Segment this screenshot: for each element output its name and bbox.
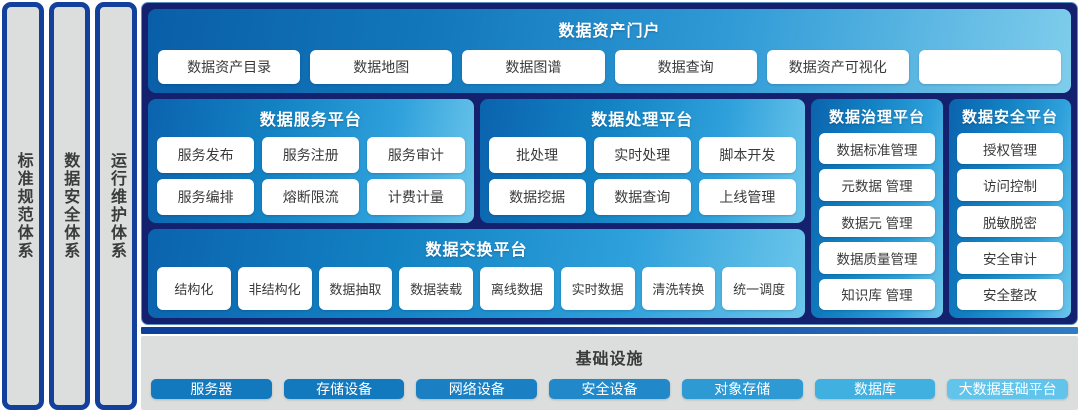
exchange-item-structured[interactable]: 结构化 <box>157 267 231 310</box>
exchange-item-offline[interactable]: 离线数据 <box>480 267 554 310</box>
security-item-rectification[interactable]: 安全整改 <box>957 279 1063 310</box>
infrastructure-title: 基础设施 <box>151 345 1068 369</box>
governance-item-data-element[interactable]: 数据元 管理 <box>819 206 935 237</box>
service-platform-grid: 服务发布 服务注册 服务审计 服务编排 熔断限流 计费计量 <box>157 137 465 215</box>
data-governance-platform-section: 数据治理平台 数据标准管理 元数据 管理 数据元 管理 数据质量管理 知识库 管… <box>811 99 943 318</box>
security-item-access-control[interactable]: 访问控制 <box>957 169 1063 200</box>
portal-item-visualization[interactable]: 数据资产可视化 <box>767 50 909 84</box>
service-platform-row: 服务发布 服务注册 服务审计 <box>157 137 465 173</box>
infra-item-server[interactable]: 服务器 <box>151 379 272 399</box>
service-platform-title: 数据服务平台 <box>157 106 465 130</box>
service-and-processing-row: 数据服务平台 服务发布 服务注册 服务审计 服务编排 熔断限流 <box>148 99 805 223</box>
main-region: 数据资产门户 数据资产目录 数据地图 数据图谱 数据查询 数据资产可视化 <box>141 0 1080 412</box>
sidebar-item-label: 标准规范体系 <box>13 152 33 260</box>
security-item-desensitization[interactable]: 脱敏脱密 <box>957 206 1063 237</box>
exchange-item-unstructured[interactable]: 非结构化 <box>238 267 312 310</box>
service-item-publish[interactable]: 服务发布 <box>157 137 254 173</box>
vertical-systems-group: 标准规范体系 数据安全体系 运行维护体系 <box>0 0 141 412</box>
processing-platform-row: 批处理 实时处理 脚本开发 <box>489 137 797 173</box>
processing-item-realtime[interactable]: 实时处理 <box>594 137 691 173</box>
sidebar-item-data-security[interactable]: 数据安全体系 <box>49 2 91 410</box>
exchange-item-realtime[interactable]: 实时数据 <box>561 267 635 310</box>
data-exchange-platform-section: 数据交换平台 结构化 非结构化 数据抽取 数据装载 离线数据 实时数据 清洗转换… <box>148 229 805 318</box>
processing-item-query[interactable]: 数据查询 <box>594 179 691 215</box>
infra-item-object-storage[interactable]: 对象存储 <box>682 379 803 399</box>
governance-item-knowledge-base[interactable]: 知识库 管理 <box>819 279 935 310</box>
data-processing-platform-section: 数据处理平台 批处理 实时处理 脚本开发 数据挖据 数据查询 <box>480 99 806 223</box>
governance-platform-title: 数据治理平台 <box>819 106 935 127</box>
service-item-orchestration[interactable]: 服务编排 <box>157 179 254 215</box>
service-item-billing[interactable]: 计费计量 <box>367 179 464 215</box>
portal-item-query[interactable]: 数据查询 <box>615 50 757 84</box>
service-item-audit[interactable]: 服务审计 <box>367 137 464 173</box>
exchange-item-cleansing[interactable]: 清洗转换 <box>642 267 716 310</box>
platform-frame: 数据资产门户 数据资产目录 数据地图 数据图谱 数据查询 数据资产可视化 <box>141 2 1078 325</box>
sidebar-item-operations[interactable]: 运行维护体系 <box>95 2 137 410</box>
governance-item-data-quality[interactable]: 数据质量管理 <box>819 242 935 273</box>
infra-item-security-device[interactable]: 安全设备 <box>549 379 670 399</box>
portal-item-map[interactable]: 数据地图 <box>310 50 452 84</box>
exchange-item-load[interactable]: 数据装载 <box>399 267 473 310</box>
service-platform-row: 服务编排 熔断限流 计费计量 <box>157 179 465 215</box>
processing-platform-title: 数据处理平台 <box>489 106 797 130</box>
right-platforms-group: 数据治理平台 数据标准管理 元数据 管理 数据元 管理 数据质量管理 知识库 管… <box>811 99 1071 318</box>
service-item-register[interactable]: 服务注册 <box>262 137 359 173</box>
security-platform-title: 数据安全平台 <box>957 106 1063 127</box>
governance-item-metadata[interactable]: 元数据 管理 <box>819 169 935 200</box>
data-service-platform-section: 数据服务平台 服务发布 服务注册 服务审计 服务编排 熔断限流 <box>148 99 474 223</box>
portal-items-row: 数据资产目录 数据地图 数据图谱 数据查询 数据资产可视化 <box>158 50 1061 84</box>
processing-item-batch[interactable]: 批处理 <box>489 137 586 173</box>
infrastructure-items-row: 服务器 存储设备 网络设备 安全设备 对象存储 数据库 大数据基础平台 <box>151 379 1068 399</box>
security-item-audit[interactable]: 安全审计 <box>957 242 1063 273</box>
portal-item-empty[interactable] <box>919 50 1061 84</box>
exchange-item-extract[interactable]: 数据抽取 <box>319 267 393 310</box>
portal-item-catalog[interactable]: 数据资产目录 <box>158 50 300 84</box>
exchange-platform-title: 数据交换平台 <box>157 236 796 260</box>
service-item-circuit-breaker[interactable]: 熔断限流 <box>262 179 359 215</box>
processing-item-release-mgmt[interactable]: 上线管理 <box>699 179 796 215</box>
data-asset-portal-section: 数据资产门户 数据资产目录 数据地图 数据图谱 数据查询 数据资产可视化 <box>148 9 1071 93</box>
infrastructure-section: 基础设施 服务器 存储设备 网络设备 安全设备 对象存储 数据库 大数据基础平台 <box>141 336 1078 410</box>
platforms-band: 数据服务平台 服务发布 服务注册 服务审计 服务编排 熔断限流 <box>148 99 1071 318</box>
processing-platform-row: 数据挖据 数据查询 上线管理 <box>489 179 797 215</box>
security-items-list: 授权管理 访问控制 脱敏脱密 安全审计 安全整改 <box>957 133 1063 310</box>
processing-item-mining[interactable]: 数据挖据 <box>489 179 586 215</box>
sidebar-item-label: 运行维护体系 <box>106 152 126 260</box>
governance-item-data-standard[interactable]: 数据标准管理 <box>819 133 935 164</box>
portal-title: 数据资产门户 <box>158 17 1061 41</box>
exchange-item-scheduling[interactable]: 统一调度 <box>722 267 796 310</box>
data-security-platform-section: 数据安全平台 授权管理 访问控制 脱敏脱密 安全审计 安全整改 <box>949 99 1071 318</box>
sidebar-item-standards[interactable]: 标准规范体系 <box>2 2 44 410</box>
infra-item-bigdata-platform[interactable]: 大数据基础平台 <box>947 379 1068 399</box>
infra-item-storage-device[interactable]: 存储设备 <box>284 379 405 399</box>
governance-items-list: 数据标准管理 元数据 管理 数据元 管理 数据质量管理 知识库 管理 <box>819 133 935 310</box>
infra-item-network-device[interactable]: 网络设备 <box>416 379 537 399</box>
exchange-items-row: 结构化 非结构化 数据抽取 数据装载 离线数据 实时数据 清洗转换 统一调度 <box>157 267 796 310</box>
section-divider <box>141 327 1078 334</box>
architecture-diagram: 标准规范体系 数据安全体系 运行维护体系 数据资产门户 数据资产目录 数据地图 … <box>0 0 1080 412</box>
processing-platform-grid: 批处理 实时处理 脚本开发 数据挖据 数据查询 上线管理 <box>489 137 797 215</box>
processing-item-script-dev[interactable]: 脚本开发 <box>699 137 796 173</box>
security-item-authorization[interactable]: 授权管理 <box>957 133 1063 164</box>
sidebar-item-label: 数据安全体系 <box>60 152 80 260</box>
left-platforms-column: 数据服务平台 服务发布 服务注册 服务审计 服务编排 熔断限流 <box>148 99 805 318</box>
infra-item-database[interactable]: 数据库 <box>815 379 936 399</box>
portal-item-graph[interactable]: 数据图谱 <box>462 50 604 84</box>
